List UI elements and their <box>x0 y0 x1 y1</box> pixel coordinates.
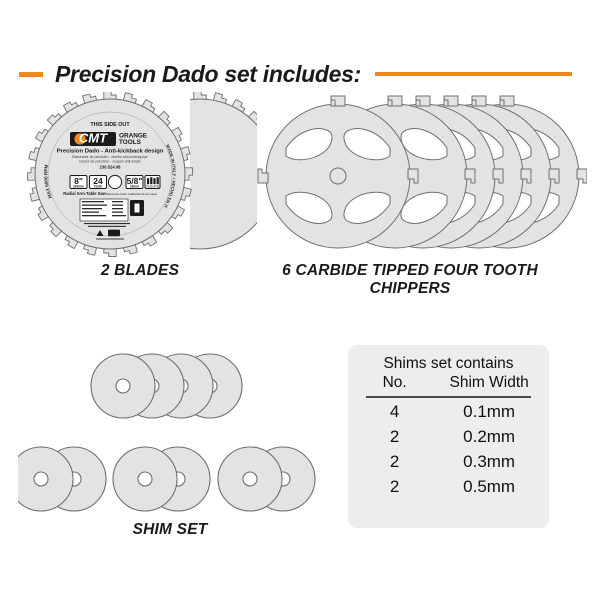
svg-text:Radial Arm-Table Saw/Sierra de: Radial Arm-Table Saw/Sierra de brazo rad… <box>63 191 157 196</box>
table-row: 20.2mm <box>354 425 543 450</box>
shims-set-table: Shims set contains No. Shim Width 40.1mm… <box>348 345 549 528</box>
svg-text:TOOLS: TOOLS <box>119 139 142 146</box>
shim-disc <box>218 447 282 511</box>
cell-shim-width: 0.5mm <box>435 477 543 497</box>
cell-no: 4 <box>354 402 435 422</box>
shim-disc <box>113 447 177 511</box>
svg-text:Precision Dado - Anti-kickback: Precision Dado - Anti-kickback design <box>57 149 164 155</box>
shim-discs-illustration <box>18 346 338 516</box>
column-header-width: Shim Width <box>435 374 543 392</box>
shim-disc <box>91 354 155 418</box>
cell-no: 2 <box>354 452 435 472</box>
accent-rule-divider <box>375 72 572 76</box>
shims-table-divider <box>366 396 531 398</box>
page-title: Precision Dado set includes: <box>55 61 361 88</box>
caption-blades: 2 BLADES <box>30 262 250 280</box>
svg-text:CMT: CMT <box>79 131 108 146</box>
svg-text:Ranurador de precisión - diseñ: Ranurador de precisión - diseño anti-con… <box>72 155 148 159</box>
shims-table-title: Shims set contains <box>354 354 543 373</box>
shim-row-bottom <box>18 447 315 511</box>
svg-text:Dados de précision - coupes an: Dados de précision - coupes anti-éclats <box>79 160 141 164</box>
shims-table-header: No. Shim Width <box>354 374 543 392</box>
section-header: Precision Dado set includes: <box>0 55 600 93</box>
chippers-illustration <box>252 94 587 260</box>
svg-text:230.524.08: 230.524.08 <box>100 165 122 170</box>
shims-table-body: 40.1mm20.2mm20.3mm20.5mm <box>354 400 543 500</box>
svg-text:THIS SIDE OUT: THIS SIDE OUT <box>90 122 130 128</box>
cell-shim-width: 0.2mm <box>435 427 543 447</box>
column-header-no: No. <box>354 374 435 392</box>
table-row: 20.5mm <box>354 475 543 500</box>
table-row: 20.3mm <box>354 450 543 475</box>
cell-shim-width: 0.1mm <box>435 402 543 422</box>
svg-text:203mm: 203mm <box>73 185 84 189</box>
svg-text:16mm: 16mm <box>130 185 139 189</box>
caption-shim-set: SHIM SET <box>60 521 280 539</box>
svg-text:Teeth: Teeth <box>94 185 102 189</box>
table-row: 40.1mm <box>354 400 543 425</box>
blades-illustration: MAX 6000 RPM MADE IN ITALY • HECHO EN IT… <box>22 92 257 257</box>
cell-no: 2 <box>354 427 435 447</box>
accent-dash-icon <box>19 72 43 77</box>
caption-chippers: 6 CARBIDE TIPPED FOUR TOOTH CHIPPERS <box>255 262 565 299</box>
cell-no: 2 <box>354 477 435 497</box>
svg-text:TCG/ATB: TCG/ATB <box>146 185 160 189</box>
cell-shim-width: 0.3mm <box>435 452 543 472</box>
shim-row-top <box>91 354 242 418</box>
